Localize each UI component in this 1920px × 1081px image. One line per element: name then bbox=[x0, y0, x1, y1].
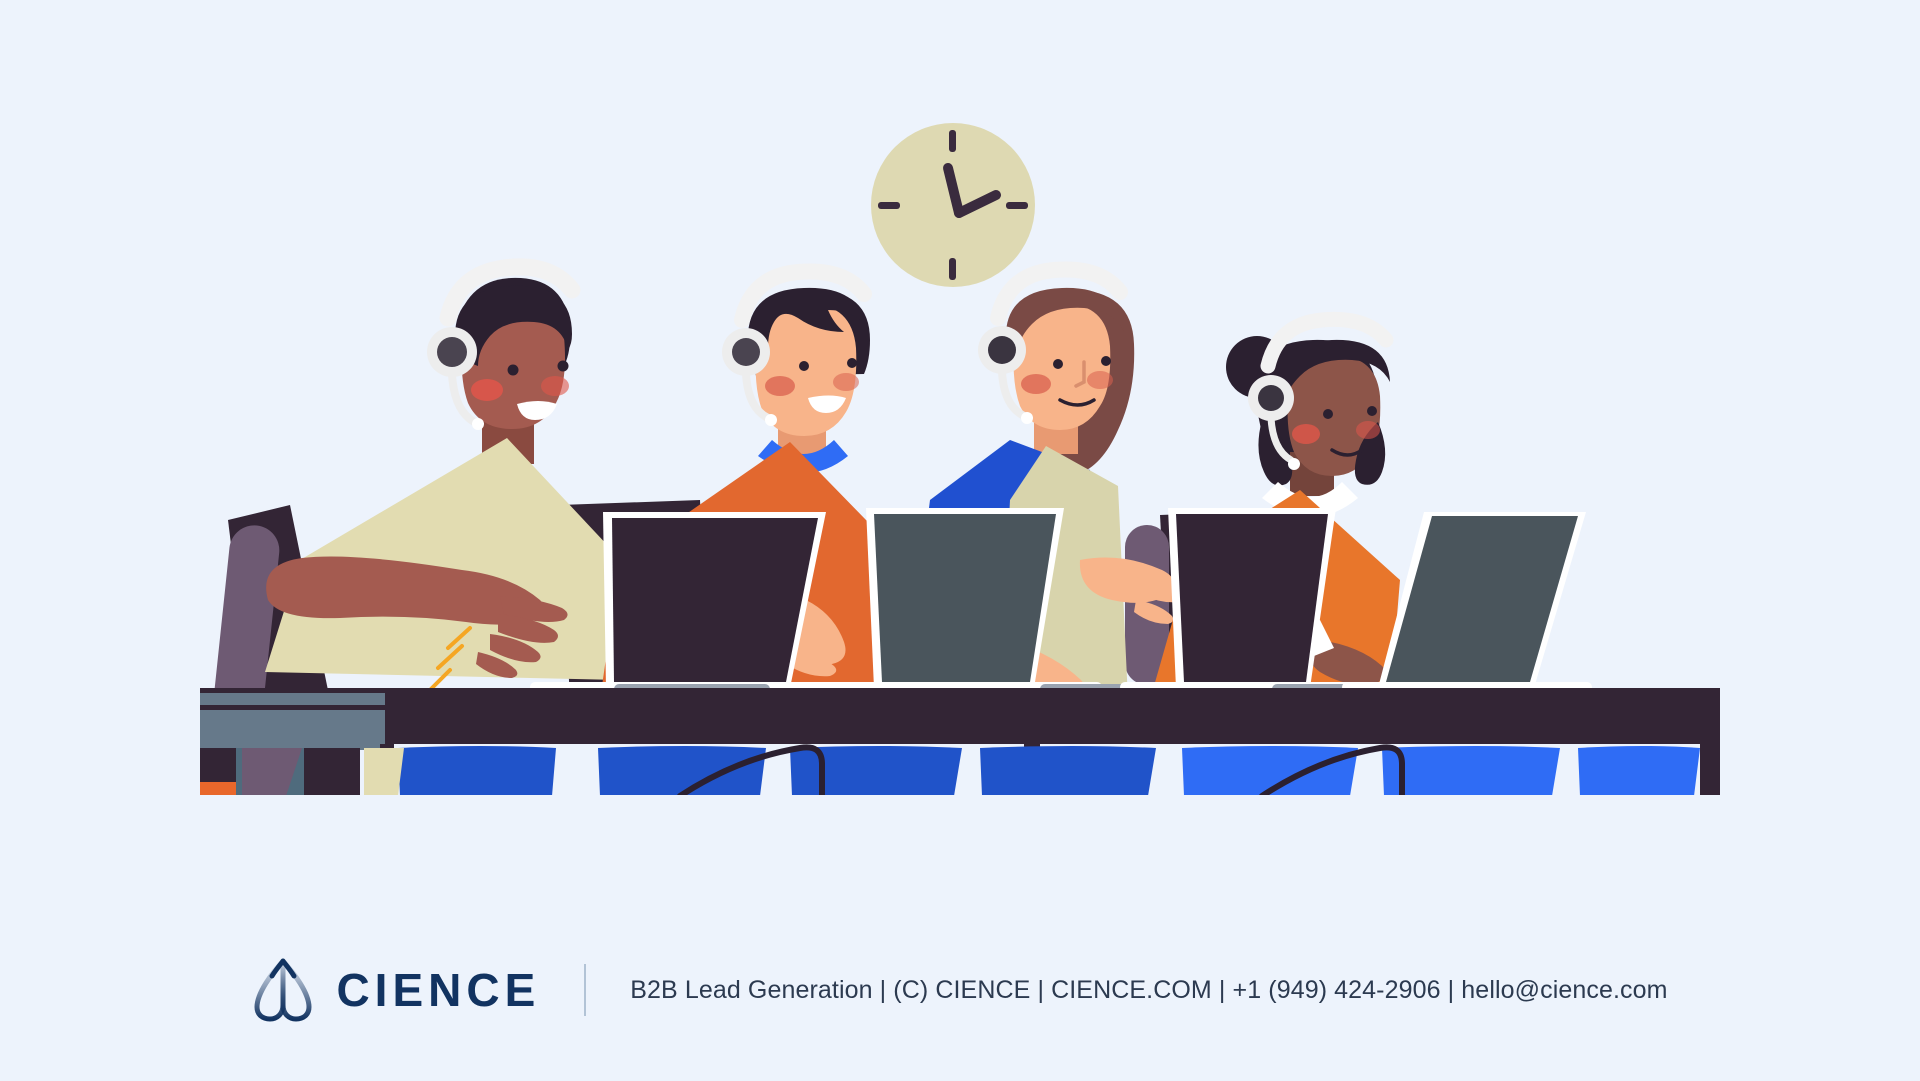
cience-logo[interactable]: CIENCE bbox=[252, 957, 540, 1023]
footer-divider bbox=[584, 964, 586, 1016]
page-root: CIENCE B2B Lead Generation | (C) CIENCE … bbox=[0, 0, 1920, 1081]
cience-arch-logo-icon bbox=[252, 957, 314, 1023]
agent-1-figure bbox=[265, 267, 640, 690]
call-center-illustration bbox=[0, 0, 1920, 900]
footer-tagline: B2B Lead Generation | (C) CIENCE | CIENC… bbox=[630, 976, 1667, 1005]
footer-content: CIENCE B2B Lead Generation | (C) CIENCE … bbox=[252, 957, 1667, 1023]
wall-clock-icon bbox=[871, 123, 1035, 287]
front-chairs-group bbox=[200, 746, 1700, 800]
footer-bar: CIENCE B2B Lead Generation | (C) CIENCE … bbox=[0, 930, 1920, 1050]
cience-wordmark: CIENCE bbox=[336, 967, 540, 1013]
